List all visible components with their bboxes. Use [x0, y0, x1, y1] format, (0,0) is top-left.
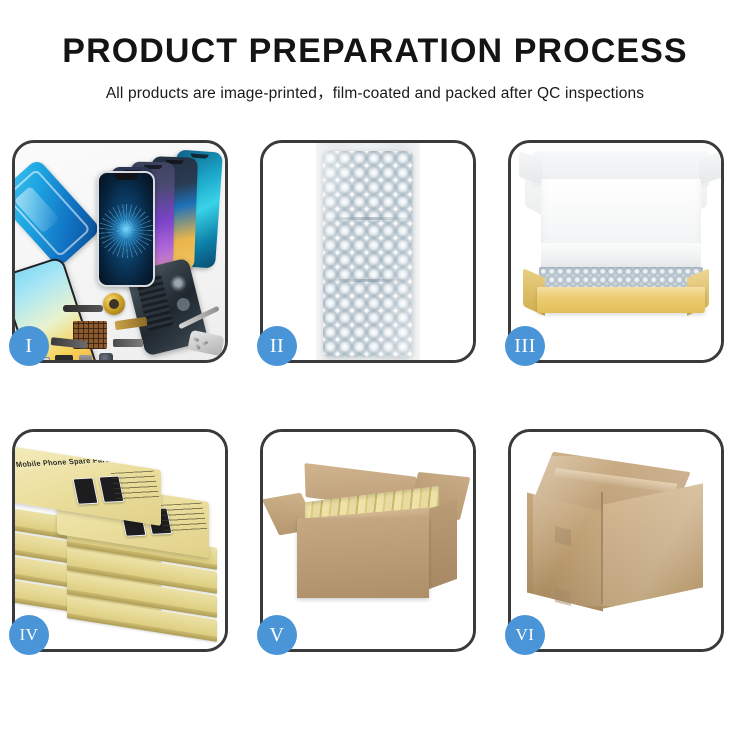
phone-notch — [114, 173, 139, 180]
step-badge-5: V — [257, 615, 297, 655]
bubble-wrap-image — [263, 143, 473, 360]
process-step-panel-5[interactable]: V — [260, 429, 476, 652]
flex-cable-part-1 — [63, 305, 103, 312]
boxed-stack-image: Mobile Phone Spare Parts Mobile Phone Sp… — [15, 432, 225, 649]
process-step-panel-4[interactable]: Mobile Phone Spare Parts Mobile Phone Sp… — [12, 429, 228, 652]
phone-display-1 — [97, 171, 155, 287]
page-title: PRODUCT PREPARATION PROCESS — [0, 34, 750, 68]
vibration-motor-part — [103, 293, 125, 315]
camera-lens-part — [99, 353, 113, 360]
inner-box-image — [511, 143, 721, 360]
box-front-panel — [537, 287, 705, 313]
step-badge-1: I — [9, 326, 49, 366]
bubble-wrapped-items — [539, 267, 703, 289]
box-product-thumb — [73, 477, 99, 504]
box-spec-lines — [159, 503, 207, 532]
carton-seal-mark-2 — [555, 588, 571, 606]
step-badge-2: II — [257, 326, 297, 366]
carton-right-face — [429, 499, 457, 589]
sealed-carton-right-face — [603, 483, 703, 608]
sealed-carton-edge — [601, 492, 603, 604]
adhesive-film-icon — [15, 158, 102, 268]
process-step-panel-2[interactable]: II — [260, 140, 476, 363]
page-subtitle: All products are image-printed，film-coat… — [0, 81, 750, 103]
process-step-panel-6[interactable]: VI — [508, 429, 724, 652]
step-badge-6: VI — [505, 615, 545, 655]
box-stack: Mobile Phone Spare Parts Mobile Phone Sp… — [15, 432, 225, 649]
box-label-text-1: Mobile Phone Spare Parts — [15, 455, 113, 469]
speaker-part — [55, 355, 73, 360]
products-image — [15, 143, 225, 360]
process-steps-grid: I II III — [12, 140, 738, 652]
step-badge-4: IV — [9, 615, 49, 655]
bubble-wrap-highlight — [323, 151, 413, 357]
screws-group — [193, 338, 213, 348]
open-carton-image — [263, 432, 473, 649]
sealed-carton-image — [511, 432, 721, 649]
process-step-panel-1[interactable]: I — [12, 140, 228, 363]
step-badge-3: III — [505, 326, 545, 366]
page-header: PRODUCT PREPARATION PROCESS All products… — [0, 0, 750, 103]
box-spec-lines — [111, 471, 159, 500]
flex-cable-part-4 — [113, 339, 143, 347]
process-step-panel-3[interactable]: III — [508, 140, 724, 363]
battery-part — [79, 355, 92, 360]
bubble-wrap-pouch — [323, 151, 413, 357]
foam-padding — [541, 243, 701, 269]
carton-front-face — [297, 518, 429, 598]
